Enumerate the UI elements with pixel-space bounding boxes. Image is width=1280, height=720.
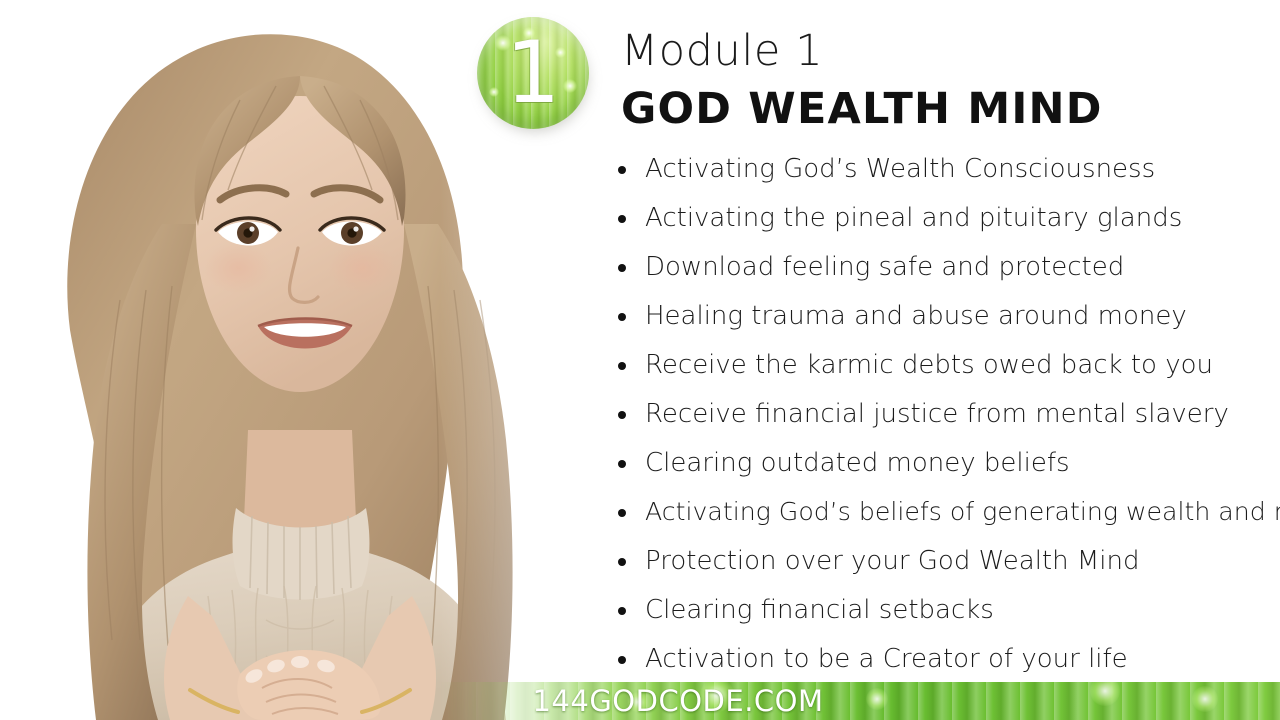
list-item: Healing trauma and abuse around money (610, 299, 1280, 348)
page-title: GOD WEALTH MIND (621, 84, 1103, 134)
list-item: Activating the pineal and pituitary glan… (610, 201, 1280, 250)
fingernail (291, 656, 309, 668)
list-item: Receive financial justice from mental sl… (610, 397, 1280, 446)
list-item: Protection over your God Wealth Mind (610, 544, 1280, 593)
badge-number: 1 (473, 15, 593, 135)
neck (244, 430, 356, 535)
module-label: Module 1 (621, 26, 823, 76)
presentation-slide: 1 Module 1 GOD WEALTH MIND Activating Go… (0, 0, 1280, 720)
list-item: Clearing outdated money beliefs (610, 446, 1280, 495)
website-url[interactable]: 144GODCODE.COM (0, 682, 1280, 720)
module-topics-list: Activating God’s Wealth Consciousness Ac… (610, 152, 1280, 691)
list-item: Activating God’s Wealth Consciousness (610, 152, 1280, 201)
cheek-right (328, 242, 396, 294)
list-item: Activating God’s beliefs of generating w… (610, 495, 1280, 544)
website-banner: 144GODCODE.COM (0, 682, 1280, 720)
list-item: Receive the karmic debts owed back to yo… (610, 348, 1280, 397)
slide-content: 1 Module 1 GOD WEALTH MIND Activating Go… (466, 0, 1280, 720)
list-item: Clearing financial setbacks (610, 593, 1280, 642)
cheek-left (204, 242, 272, 294)
list-item: Download feeling safe and protected (610, 250, 1280, 299)
module-number-badge: 1 (473, 15, 593, 135)
